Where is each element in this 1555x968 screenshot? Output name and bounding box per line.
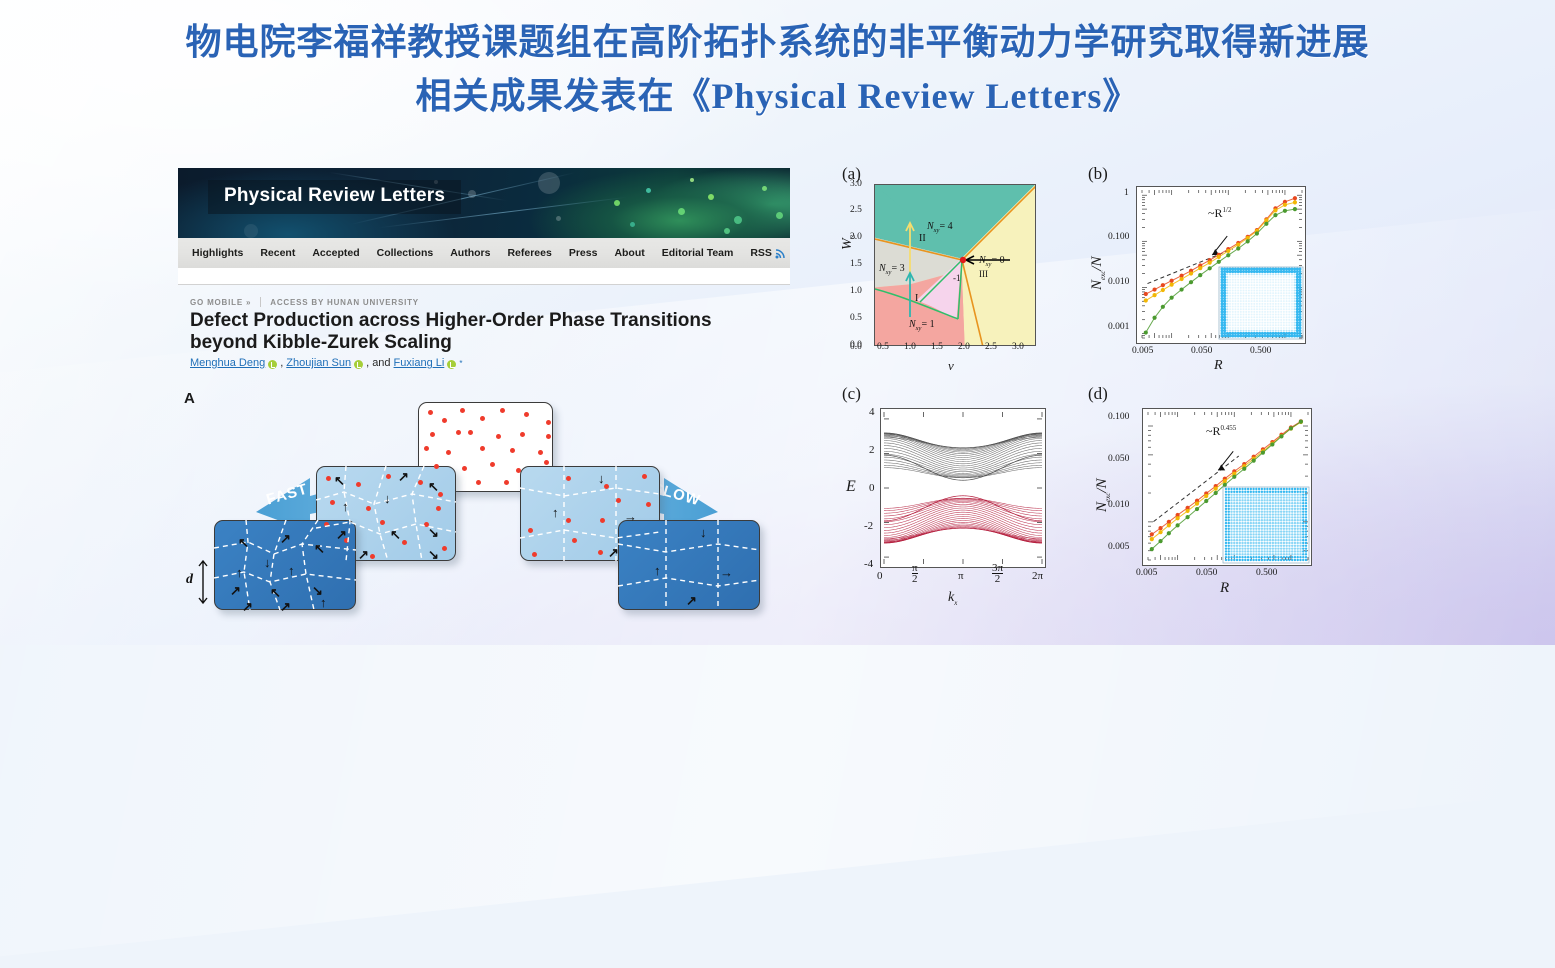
banner-speck (646, 188, 651, 193)
nav-item-press[interactable]: Press (569, 247, 598, 259)
journal-title-plate: Physical Review Letters (208, 180, 461, 214)
panel-d-ytick-3: 0.100 (1108, 412, 1129, 422)
orcid-icon[interactable] (354, 360, 363, 369)
nav-item-collections[interactable]: Collections (377, 247, 434, 259)
panel-b-xtick-0: 0.005 (1132, 346, 1153, 356)
panel-a-ytick-1: 0.5 (850, 313, 862, 323)
banner-orb (556, 216, 561, 221)
nav-item-referees[interactable]: Referees (507, 247, 551, 259)
banner-speck (690, 178, 694, 182)
panel-d-inset (1222, 486, 1310, 564)
nav-item-recent[interactable]: Recent (260, 247, 295, 259)
page-title-line-2: 相关成果发表在《Physical Review Letters》 (0, 72, 1555, 120)
banner-speck (724, 228, 730, 234)
panel-b-scaling-annotation: ~R1/2 (1208, 206, 1231, 221)
banner-speck (614, 200, 620, 206)
corresponding-author-mark: * (459, 359, 462, 368)
orcid-icon[interactable] (447, 360, 456, 369)
panel-a-ytick-5: 2.5 (850, 205, 862, 215)
author-conjunction: and (372, 357, 390, 369)
meta-divider (260, 297, 261, 307)
panel-b-inset (1218, 266, 1304, 340)
panel-b-annotation-exp: 1/2 (1223, 206, 1232, 214)
panel-a-xtick-3: 1.5 (931, 342, 943, 352)
panel-label-c: (c) (842, 384, 861, 404)
panel-a-xtick-4: 2.0 (958, 342, 970, 352)
author-separator: , (280, 357, 283, 369)
panel-a-ytick-3: 1.5 (850, 259, 862, 269)
panel-b-ytick-2: 0.100 (1108, 232, 1129, 242)
panel-d-annotation-base: ~R (1206, 424, 1221, 438)
panel-c-ytick-2: 0 (869, 482, 875, 494)
panel-a-ytick-4: 2.0 (850, 232, 862, 242)
journal-banner: Physical Review Letters (178, 168, 790, 238)
panel-c-xtick-4: 2π (1032, 570, 1043, 582)
author-link-1[interactable]: Menghua Deng (190, 357, 265, 369)
phase-diagram-plot: Nxy= 4 Nxy= 3 Nxy= 0 Nxy= 1 -1 II I III (874, 184, 1036, 346)
panel-a-xlabel: v (948, 358, 954, 374)
results-figure-grid: (a) (836, 162, 1396, 632)
panel-d-xtick-2: 0.500 (1256, 568, 1277, 578)
banner-speck (762, 186, 767, 191)
phase-label-n0: Nxy= 0 (979, 255, 1005, 268)
access-institution: ACCESS BY HUNAN UNIVERSITY (270, 298, 419, 307)
panel-b-xtick-2: 0.500 (1250, 346, 1271, 356)
author-link-3[interactable]: Fuxiang Li (394, 357, 445, 369)
panel-d-ytick-0: 0.005 (1108, 542, 1129, 552)
panel-c-ytick-4: 4 (869, 406, 875, 418)
panel-a-xtick-2: 1.0 (904, 342, 916, 352)
panel-b-ytick-1: 0.010 (1108, 277, 1129, 287)
panel-c-ytick-3: 2 (869, 444, 875, 456)
lattice-inset (1222, 486, 1310, 564)
rss-icon[interactable] (775, 248, 786, 259)
banner-speck (678, 208, 685, 215)
panel-a-xtick-6: 3.0 (1012, 342, 1024, 352)
banner-speck (776, 212, 783, 219)
panel-c-xtick-3: 3π2 (992, 564, 1003, 584)
panel-b-xlabel: R (1214, 358, 1223, 374)
panel-c-ytick-0: -4 (864, 558, 873, 570)
panel-d-scaling-annotation: ~R0.455 (1206, 424, 1236, 439)
phase-label-n3: Nxy= 3 (879, 263, 905, 276)
panel-b-ylabel: Nexc/N (1089, 256, 1107, 290)
panel-b-xtick-1: 0.050 (1191, 346, 1212, 356)
nav-item-rss-label[interactable]: RSS (750, 247, 772, 259)
article-authors: Menghua Deng , Zhoujian Sun , and Fuxian… (190, 357, 462, 369)
panel-a-ytick-2: 1.0 (850, 286, 862, 296)
panel-c-ylabel: E (846, 478, 856, 496)
nav-item-about[interactable]: About (614, 247, 644, 259)
phase-label-n4: Nxy= 4 (927, 221, 953, 234)
panel-d-ytick-2: 0.050 (1108, 454, 1129, 464)
author-separator: , (366, 357, 369, 369)
author-link-2[interactable]: Zhoujian Sun (286, 357, 351, 369)
orcid-icon[interactable] (268, 360, 277, 369)
domain-size-label: d (186, 572, 193, 588)
lattice-inset (1218, 266, 1304, 340)
nav-item-highlights[interactable]: Highlights (192, 247, 243, 259)
panel-c-xlabel: kx (948, 590, 957, 607)
journal-title: Physical Review Letters (224, 185, 445, 206)
banner-speck (708, 194, 714, 200)
panel-b-ytick-3: 1 (1124, 188, 1129, 198)
article-title[interactable]: Defect Production across Higher-Order Ph… (190, 310, 780, 354)
panel-c-bands (880, 408, 1046, 568)
panel-c-ytick-1: -2 (864, 520, 873, 532)
panel-d-xtick-0: 0.005 (1136, 568, 1157, 578)
banner-orb (244, 224, 258, 238)
nav-item-editorial-team[interactable]: Editorial Team (662, 247, 734, 259)
phase-label-n1: Nxy= 1 (909, 319, 935, 332)
panel-b-ytick-0: 0.001 (1108, 322, 1129, 332)
panel-a-ytick-0: 0.0 (850, 340, 862, 350)
panel-b-annotation-base: ~R (1208, 206, 1223, 220)
panel-a-ytick-6: 3.0 (850, 179, 862, 189)
go-mobile-link[interactable]: GO MOBILE » (190, 298, 251, 307)
phase-label-nm1: -1 (953, 273, 961, 283)
journal-content-divider (178, 268, 790, 285)
panel-a-xtick-1: 0.5 (877, 342, 889, 352)
panel-d-ytick-1: 0.010 (1108, 500, 1129, 510)
banner-speck (630, 222, 635, 227)
domain-size-measure: d (188, 558, 210, 611)
panel-c-xtick-2: π (958, 570, 964, 582)
phase-annotation-II: II (919, 233, 926, 244)
article-meta-row: GO MOBILE » ACCESS BY HUNAN UNIVERSITY (190, 297, 419, 307)
nav-item-rss[interactable]: RSS (750, 247, 786, 259)
panel-a-xtick-5: 2.5 (985, 342, 997, 352)
panel-d-xlabel: R (1220, 580, 1229, 597)
schematic-figure: A FAST SLOW (180, 388, 792, 613)
panel-c-xtick-1: π2 (912, 564, 918, 584)
journal-screenshot-card: Physical Review Letters Highlights Recen… (178, 168, 790, 284)
panel-label-d: (d) (1088, 384, 1108, 404)
panel-d-annotation-exp: 0.455 (1221, 424, 1237, 432)
nav-item-authors[interactable]: Authors (450, 247, 490, 259)
panel-d-xtick-1: 0.050 (1196, 568, 1217, 578)
banner-speck (734, 216, 742, 224)
nav-item-accepted[interactable]: Accepted (312, 247, 359, 259)
page-title: 物电院李福祥教授课题组在高阶拓扑系统的非平衡动力学研究取得新进展 相关成果发表在… (0, 18, 1555, 120)
journal-nav-bar[interactable]: Highlights Recent Accepted Collections A… (178, 238, 790, 268)
panel-c-xtick-0: 0 (877, 570, 883, 582)
phase-annotation-III: III (979, 269, 988, 279)
page-title-line-1: 物电院李福祥教授课题组在高阶拓扑系统的非平衡动力学研究取得新进展 (0, 18, 1555, 66)
phase-annotation-I: I (915, 293, 918, 304)
panel-label-b: (b) (1088, 164, 1108, 184)
figure-panel-label-A: A (184, 390, 195, 407)
